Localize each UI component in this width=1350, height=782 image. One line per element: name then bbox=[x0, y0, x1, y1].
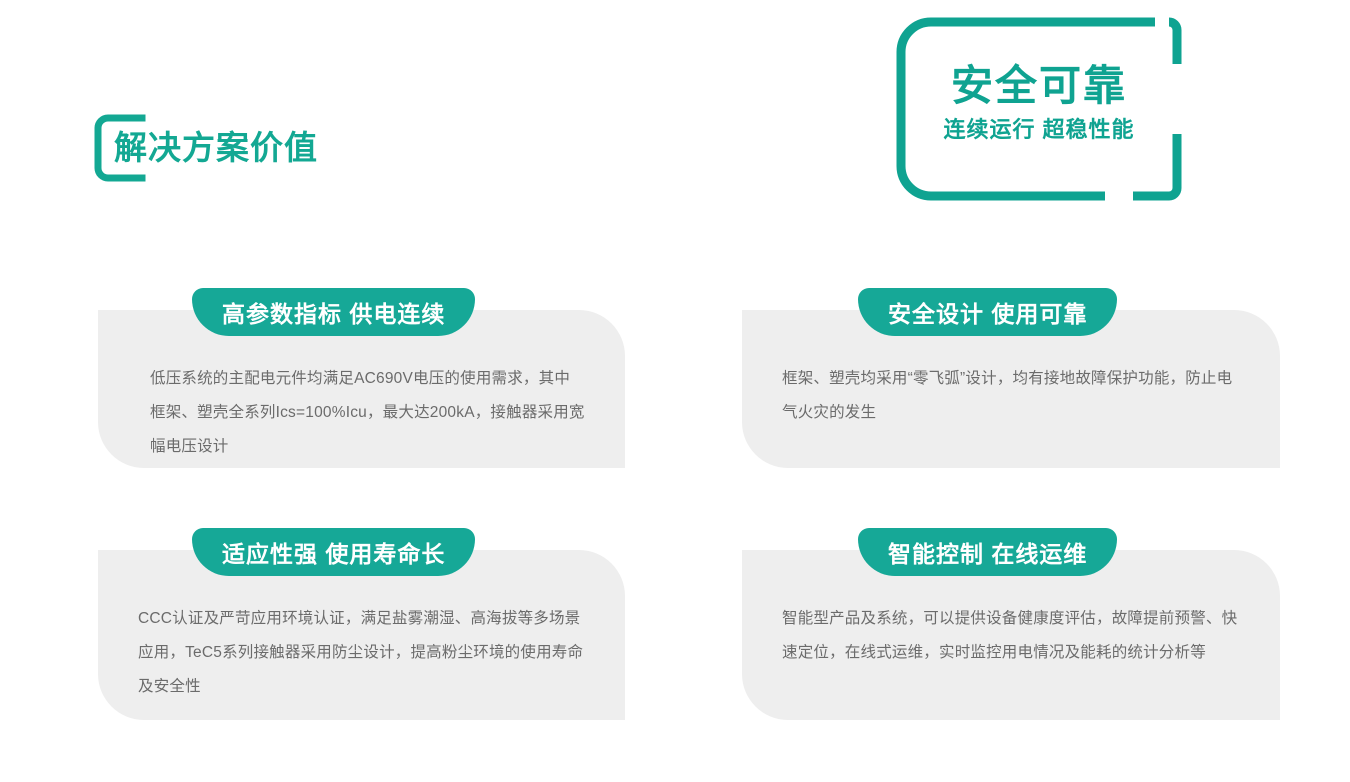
safety-badge: 安全可靠 连续运行 超稳性能 bbox=[893, 14, 1185, 204]
feature-card-text: CCC认证及严苛应用环境认证，满足盐雾潮湿、高海拔等多场景应用，TeC5系列接触… bbox=[138, 602, 585, 704]
feature-card-header: 高参数指标 供电连续 bbox=[192, 288, 475, 336]
feature-card: 安全设计 使用可靠 框架、塑壳均采用“零飞弧”设计，均有接地故障保护功能，防止电… bbox=[742, 310, 1280, 468]
feature-card-body: 框架、塑壳均采用“零飞弧”设计，均有接地故障保护功能，防止电气火灾的发生 bbox=[782, 362, 1240, 430]
feature-card: 高参数指标 供电连续 低压系统的主配电元件均满足AC690V电压的使用需求，其中… bbox=[98, 310, 625, 468]
feature-card-text: 智能型产品及系统，可以提供设备健康度评估，故障提前预警、快速定位，在线式运维，实… bbox=[782, 602, 1240, 670]
feature-card-text: 低压系统的主配电元件均满足AC690V电压的使用需求，其中框架、塑壳全系列Ics… bbox=[150, 362, 585, 464]
feature-card-header: 适应性强 使用寿命长 bbox=[192, 528, 475, 576]
feature-card-header: 安全设计 使用可靠 bbox=[858, 288, 1117, 336]
page-root: 解决方案价值 安全可靠 连续运行 超稳性能 高参数指标 供电连续 低压系统的主配… bbox=[0, 0, 1350, 782]
feature-card: 智能控制 在线运维 智能型产品及系统，可以提供设备健康度评估，故障提前预警、快速… bbox=[742, 550, 1280, 720]
badge-main-text: 安全可靠 bbox=[893, 60, 1185, 112]
feature-card-body: 低压系统的主配电元件均满足AC690V电压的使用需求，其中框架、塑壳全系列Ics… bbox=[150, 362, 585, 464]
feature-card: 适应性强 使用寿命长 CCC认证及严苛应用环境认证，满足盐雾潮湿、高海拔等多场景… bbox=[98, 550, 625, 720]
feature-card-text: 框架、塑壳均采用“零飞弧”设计，均有接地故障保护功能，防止电气火灾的发生 bbox=[782, 362, 1240, 430]
badge-sub-text: 连续运行 超稳性能 bbox=[893, 114, 1185, 146]
feature-card-body: 智能型产品及系统，可以提供设备健康度评估，故障提前预警、快速定位，在线式运维，实… bbox=[782, 602, 1240, 670]
feature-card-body: CCC认证及严苛应用环境认证，满足盐雾潮湿、高海拔等多场景应用，TeC5系列接触… bbox=[138, 602, 585, 704]
badge-text-group: 安全可靠 连续运行 超稳性能 bbox=[893, 60, 1185, 146]
feature-card-header: 智能控制 在线运维 bbox=[858, 528, 1117, 576]
section-heading: 解决方案价值 bbox=[92, 112, 512, 192]
page-title: 解决方案价值 bbox=[114, 126, 318, 170]
